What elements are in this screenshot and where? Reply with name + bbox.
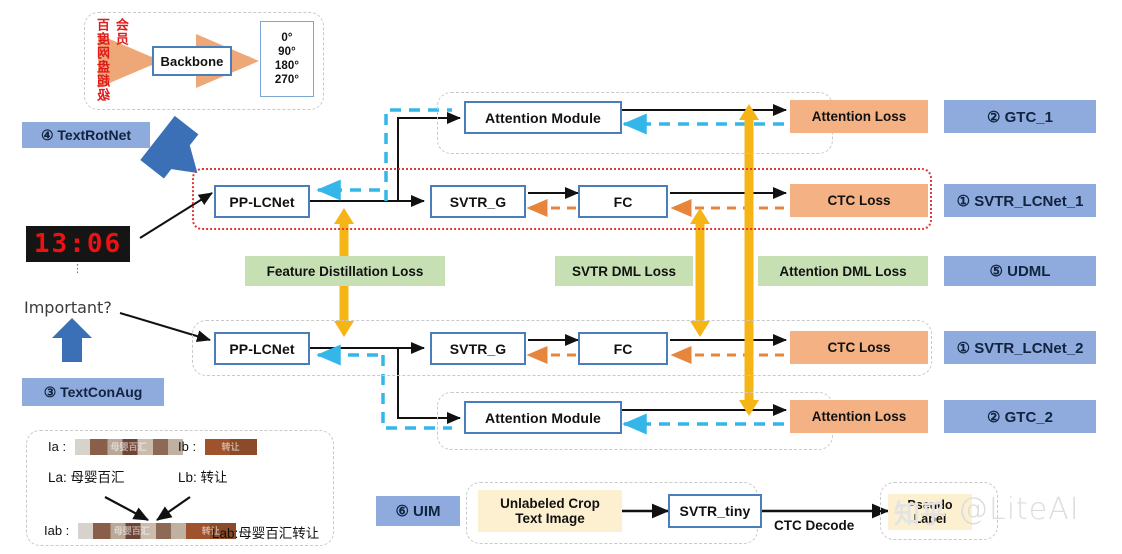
clock-ellipsis: ⋮ — [72, 262, 83, 275]
feature-distillation-loss: Feature Distillation Loss — [245, 256, 445, 286]
ctc-loss-2: CTC Loss — [790, 331, 928, 364]
watermark-cn: 知乎 — [894, 494, 946, 531]
conaug-row-ib: Ib : 转让 — [178, 438, 257, 456]
iab-label: Iab : — [44, 523, 69, 538]
textconaug-blue-arrow — [52, 318, 92, 362]
angle-90: 90° — [278, 45, 296, 59]
tag-gtc-1[interactable]: ② GTC_1 — [944, 100, 1096, 133]
ib-crop-ghost-text: 转让 — [205, 439, 257, 455]
angle-0: 0° — [281, 31, 292, 45]
attention-module-2[interactable]: Attention Module — [464, 401, 622, 434]
clock-sample-image: 13:06 — [26, 226, 130, 262]
pp-lcnet-2[interactable]: PP-LCNet — [214, 332, 310, 365]
iab-crop-image: 母婴百汇 — [78, 523, 186, 539]
unlabeled-crop-text-image: Unlabeled Crop Text Image — [478, 490, 622, 532]
svtr-dml-loss: SVTR DML Loss — [555, 256, 693, 286]
ctc-loss-1: CTC Loss — [790, 184, 928, 217]
textrotnet-sample-text: 百度网盘超级会员 — [95, 18, 117, 104]
tag-svtr-lcnet-2[interactable]: ① SVTR_LCNet_2 — [944, 331, 1096, 364]
ib-crop-image: 转让 — [205, 439, 257, 455]
tag-gtc-2[interactable]: ② GTC_2 — [944, 400, 1096, 433]
conaug-row-iab: Iab : 母婴百汇 转让 — [44, 522, 236, 540]
fc-1[interactable]: FC — [578, 185, 668, 218]
lab-label: Lab:母婴百汇转让 — [212, 522, 319, 542]
tag-textconaug[interactable]: ③ TextConAug — [22, 378, 164, 406]
attention-loss-1: Attention Loss — [790, 100, 928, 133]
angle-270: 270° — [275, 73, 299, 87]
attention-loss-2: Attention Loss — [790, 400, 928, 433]
ia-label: Ia : — [48, 439, 66, 454]
backbone-box[interactable]: Backbone — [152, 46, 232, 76]
attention-module-1[interactable]: Attention Module — [464, 101, 622, 134]
tag-svtr-lcnet-1[interactable]: ① SVTR_LCNet_1 — [944, 184, 1096, 217]
attention-dml-loss: Attention DML Loss — [758, 256, 928, 286]
svtr-tiny[interactable]: SVTR_tiny — [668, 494, 762, 528]
diagram-canvas: 百度网盘超级会员 Backbone 0° 90° 180° 270° ④ Tex… — [0, 0, 1122, 554]
svtr-g-2[interactable]: SVTR_G — [430, 332, 526, 365]
rotation-angles-box: 0° 90° 180° 270° — [260, 21, 314, 97]
angle-180: 180° — [275, 59, 299, 73]
ctc-decode-label: CTC Decode — [774, 518, 854, 533]
ia-crop-ghost-text: 母婴百汇 — [75, 439, 183, 455]
tag-uim[interactable]: ⑥ UIM — [376, 496, 460, 526]
tag-udml[interactable]: ⑤ UDML — [944, 256, 1096, 286]
svtr-g-1[interactable]: SVTR_G — [430, 185, 526, 218]
ib-label: Ib : — [178, 439, 196, 454]
iab-crop-ghost-text-a: 母婴百汇 — [78, 523, 186, 539]
lb-label: Lb: 转让 — [178, 466, 228, 486]
la-label: La: 母婴百汇 — [48, 466, 125, 486]
unlabeled-line-1: Unlabeled Crop — [500, 496, 600, 511]
unlabeled-line-2: Text Image — [515, 511, 585, 526]
important-question: Important? — [24, 298, 112, 317]
tag-textrotnet[interactable]: ④ TextRotNet — [22, 122, 150, 148]
fc-2[interactable]: FC — [578, 332, 668, 365]
ia-crop-image: 母婴百汇 — [75, 439, 183, 455]
conaug-row-ia: Ia : 母婴百汇 — [48, 438, 183, 456]
pp-lcnet-1[interactable]: PP-LCNet — [214, 185, 310, 218]
watermark-en: @LiteAI — [958, 492, 1080, 527]
